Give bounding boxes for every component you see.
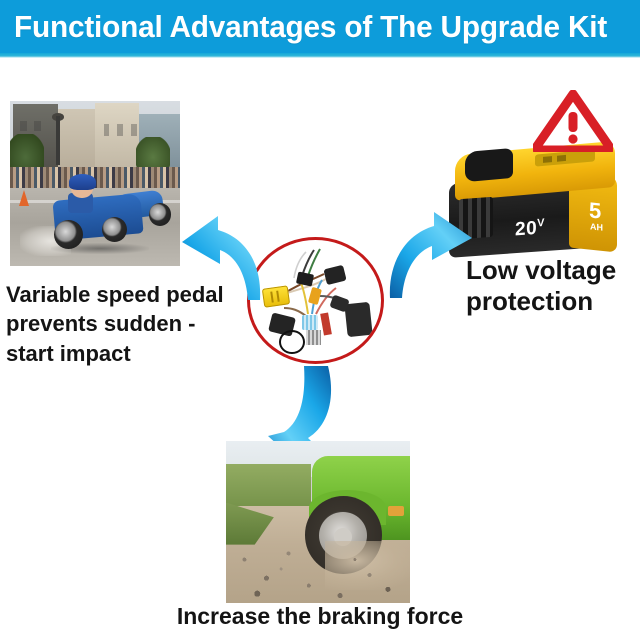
photo-window bbox=[20, 121, 27, 131]
feature-image-variable-speed-pedal bbox=[10, 101, 180, 266]
header-banner-fade bbox=[0, 53, 640, 58]
harness-controller-box bbox=[344, 302, 372, 337]
photo-building bbox=[95, 103, 139, 176]
feature-label-increase-braking-force: Increase the braking force bbox=[0, 603, 640, 630]
photo-car-wheel bbox=[149, 203, 171, 225]
photo-window bbox=[34, 121, 41, 131]
photo-child-helmet bbox=[69, 174, 96, 190]
photo-window bbox=[117, 124, 123, 136]
center-upgrade-kit-circle bbox=[247, 237, 384, 364]
battery-voltage-value: 20 bbox=[515, 218, 537, 241]
photo-window bbox=[104, 124, 110, 136]
wiring-harness-image bbox=[250, 240, 381, 361]
photo-window bbox=[131, 124, 137, 136]
arrow-to-right bbox=[386, 208, 478, 300]
harness-blue-connector bbox=[302, 315, 318, 330]
harness-pin-connector bbox=[306, 330, 320, 346]
warning-triangle-icon bbox=[533, 90, 613, 152]
photo-car-wheel bbox=[54, 220, 83, 249]
page-title: Functional Advantages of The Upgrade Kit bbox=[14, 9, 607, 45]
battery-handle-slot bbox=[465, 148, 513, 182]
infographic-root: Functional Advantages of The Upgrade Kit bbox=[0, 0, 640, 635]
harness-module bbox=[296, 271, 314, 286]
photo-building bbox=[58, 109, 95, 175]
photo-gravel bbox=[226, 541, 410, 603]
arrow-to-left bbox=[174, 212, 266, 304]
photo-vehicle-marker-light bbox=[388, 506, 405, 516]
battery-capacity-unit: AH bbox=[590, 221, 603, 232]
photo-street-lamp-pole bbox=[56, 116, 60, 166]
feature-label-low-voltage-protection: Low voltage protection bbox=[466, 255, 634, 316]
harness-cable-ring bbox=[279, 330, 305, 355]
battery-voltage-unit: V bbox=[537, 217, 545, 230]
battery-voltage-label: 20V bbox=[515, 217, 545, 241]
photo-traffic-cone bbox=[19, 190, 29, 206]
feature-image-increase-braking-force bbox=[226, 441, 410, 603]
